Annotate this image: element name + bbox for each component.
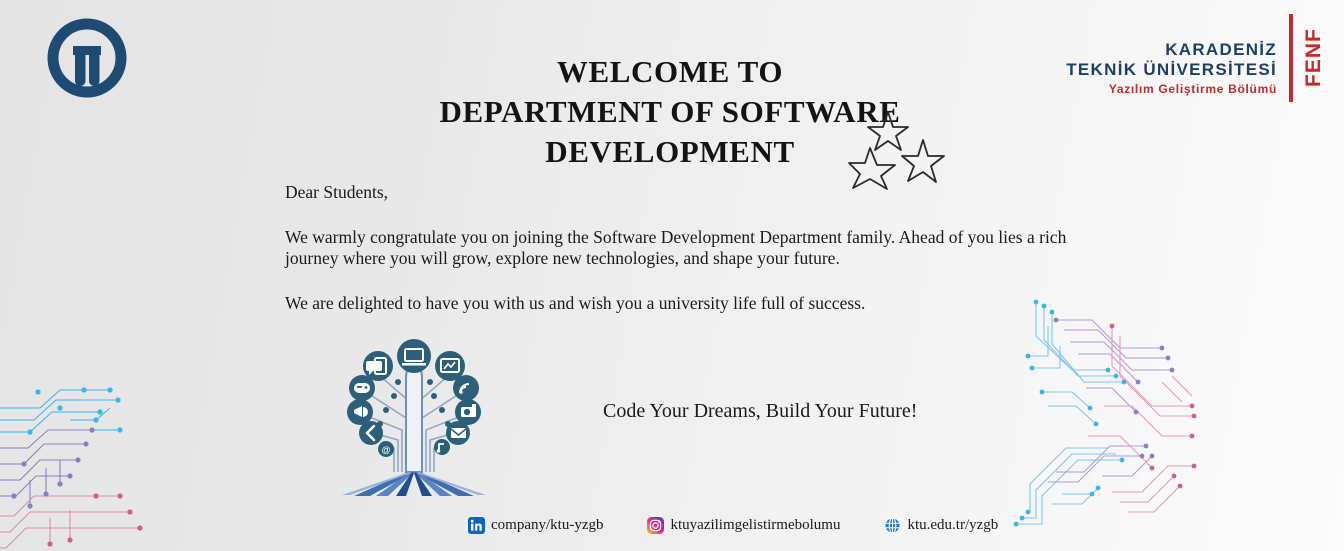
tree-node-code: [359, 421, 383, 445]
letter-paragraph-1: We warmly congratulate you on joining th…: [285, 227, 1095, 269]
tree-node-music: [434, 439, 450, 455]
footer-link-linkedin[interactable]: company/ktu-yzgb: [468, 517, 603, 534]
instagram-icon: [647, 517, 664, 534]
svg-text:@: @: [381, 445, 390, 455]
logo-divider: [1289, 14, 1293, 102]
tree-node-monitor: [397, 339, 431, 373]
footer-link-instagram[interactable]: ktuyazilimgelistirmebolumu: [647, 517, 840, 534]
department-name: Yazılım Geliştirme Bölümü: [1066, 80, 1277, 98]
ktu-emblem-logo: [45, 16, 129, 100]
footer-label-linkedin: company/ktu-yzgb: [491, 517, 603, 534]
title-line-1: WELCOME TO: [400, 52, 940, 92]
tree-node-wifi: [453, 375, 479, 401]
footer-label-website: ktu.edu.tr/yzgb: [907, 517, 998, 534]
linkedin-icon: [468, 517, 485, 534]
tagline-text: Code Your Dreams, Build Your Future!: [603, 400, 917, 423]
university-name-line1: KARADENİZ: [1066, 40, 1277, 60]
circuit-decoration-left: [0, 368, 180, 551]
tree-node-gamepad: [349, 375, 375, 401]
welcome-poster: KARADENİZ TEKNİK ÜNİVERSİTESİ Yazılım Ge…: [0, 0, 1344, 551]
footer-links: company/ktu-yzgb: [468, 517, 998, 534]
technology-tree-illustration: @: [336, 332, 492, 498]
tree-node-at: @: [378, 441, 394, 457]
letter-body: Dear Students, We warmly congratulate yo…: [285, 182, 1095, 314]
globe-icon: [884, 517, 901, 534]
faculty-logo-text: KARADENİZ TEKNİK ÜNİVERSİTESİ Yazılım Ge…: [1066, 14, 1289, 98]
faculty-logo: KARADENİZ TEKNİK ÜNİVERSİTESİ Yazılım Ge…: [1066, 14, 1326, 106]
footer-link-website[interactable]: ktu.edu.tr/yzgb: [884, 517, 998, 534]
footer-label-instagram: ktuyazilimgelistirmebolumu: [670, 517, 840, 534]
stars-icon: [848, 108, 948, 190]
tree-node-mail: [446, 421, 470, 445]
tree-node-megaphone: [347, 399, 373, 425]
letter-paragraph-2: We are delighted to have you with us and…: [285, 293, 1095, 314]
circuit-decoration-right: [1012, 296, 1197, 528]
letter-salutation: Dear Students,: [285, 182, 1095, 203]
university-name-line2: TEKNİK ÜNİVERSİTESİ: [1066, 60, 1277, 80]
faculty-abbreviation: FENF: [1302, 14, 1326, 102]
